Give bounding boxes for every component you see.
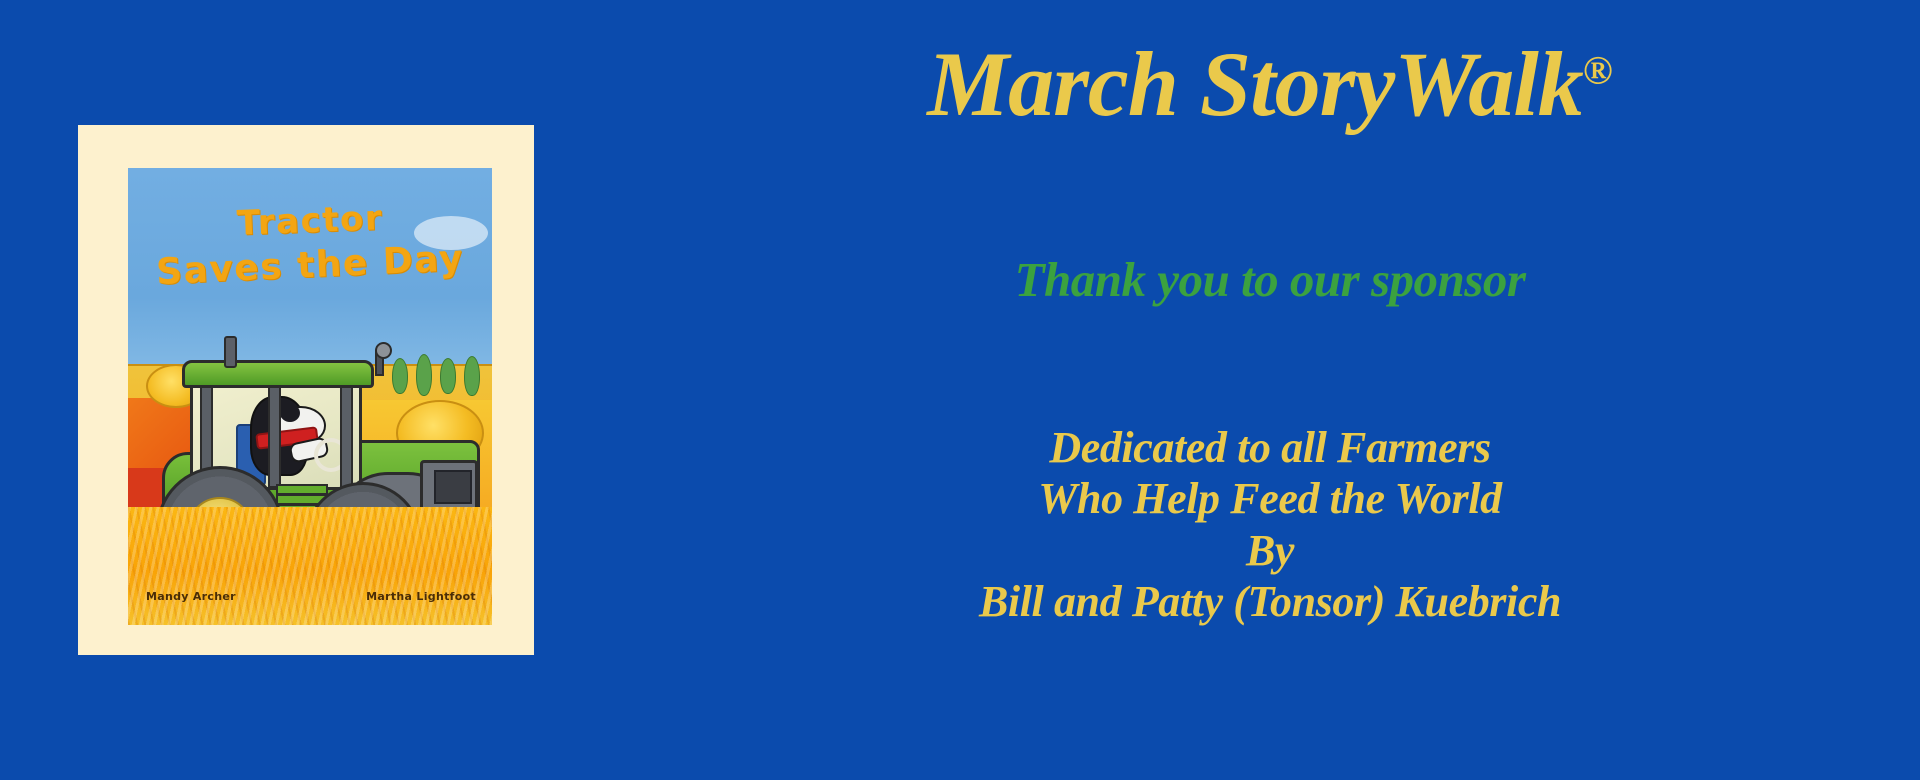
cover-illustrator-name: Martha Lightfoot (366, 590, 476, 603)
tractor-cab-roof (182, 360, 374, 388)
dedication-line-3: By (620, 527, 1920, 575)
banner-text-column: March StoryWalk® Thank you to our sponso… (620, 0, 1920, 780)
dedication-line-4: Bill and Patty (Tonsor) Kuebrich (620, 578, 1920, 626)
tractor-cab-pillar (340, 372, 353, 488)
tractor-exhaust-pipe (224, 336, 237, 368)
cover-author-name: Mandy Archer (146, 590, 236, 603)
storywalk-banner: Tractor Saves the Day (0, 0, 1920, 780)
book-cover-frame: Tractor Saves the Day (78, 125, 534, 655)
book-cover-image: Tractor Saves the Day (128, 168, 492, 625)
dedication-line-1: Dedicated to all Farmers (620, 424, 1920, 472)
cover-straw-foreground (128, 507, 492, 625)
tractor-mirror (375, 342, 392, 359)
tractor-grille (434, 470, 472, 504)
sponsor-thanks-line: Thank you to our sponsor (620, 251, 1920, 308)
page-title-text: March StoryWalk (927, 33, 1583, 135)
tractor-cab-pillar (268, 372, 281, 488)
dedication-block: Dedicated to all Farmers Who Help Feed t… (620, 424, 1920, 630)
cow-driver-patch (280, 404, 300, 422)
registered-trademark-icon: ® (1583, 47, 1613, 92)
page-title: March StoryWalk® (620, 36, 1920, 133)
dedication-line-2: Who Help Feed the World (620, 475, 1920, 523)
